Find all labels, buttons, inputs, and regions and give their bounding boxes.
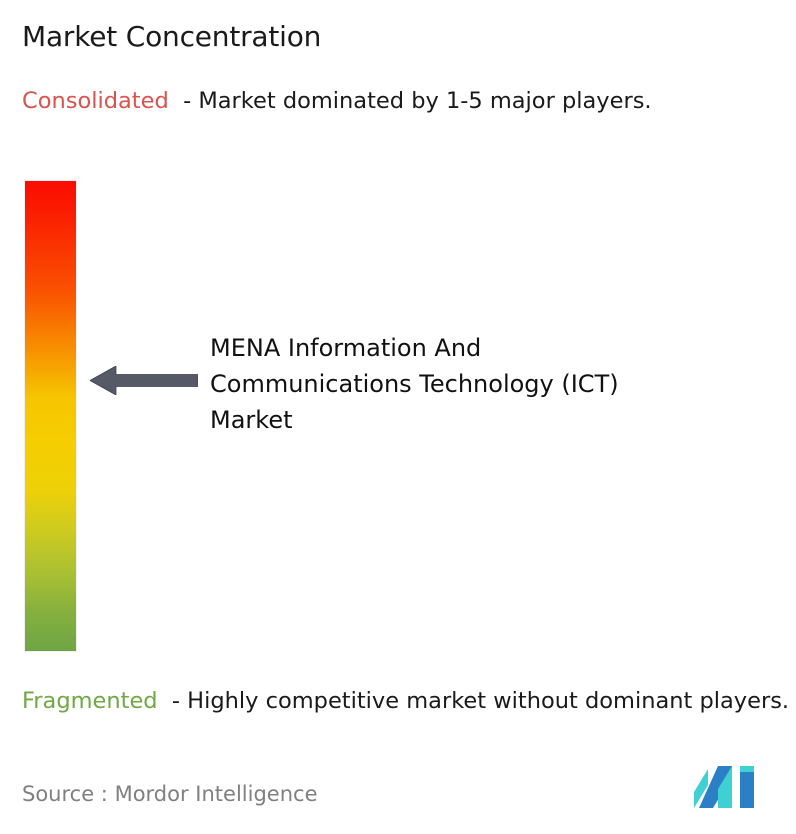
legend-fragmented-description: - Highly competitive market without domi… xyxy=(172,688,789,714)
legend-fragmented-key: Fragmented xyxy=(22,688,158,714)
legend-fragmented: Fragmented - Highly competitive market w… xyxy=(22,686,790,717)
source-attribution: Source : Mordor Intelligence xyxy=(22,780,317,808)
page-title: Market Concentration xyxy=(22,20,321,54)
arrow-left-icon xyxy=(90,366,198,395)
concentration-gradient-bar xyxy=(25,181,76,651)
legend-consolidated-key: Consolidated xyxy=(22,88,169,114)
mordor-intelligence-logo xyxy=(694,766,758,808)
source-label: Source : xyxy=(22,782,108,806)
legend-consolidated-description: - Market dominated by 1-5 major players. xyxy=(183,88,652,114)
source-value: Mordor Intelligence xyxy=(115,782,318,806)
legend-consolidated: Consolidated - Market dominated by 1-5 m… xyxy=(22,86,762,117)
market-label: MENA Information And Communications Tech… xyxy=(210,330,630,438)
